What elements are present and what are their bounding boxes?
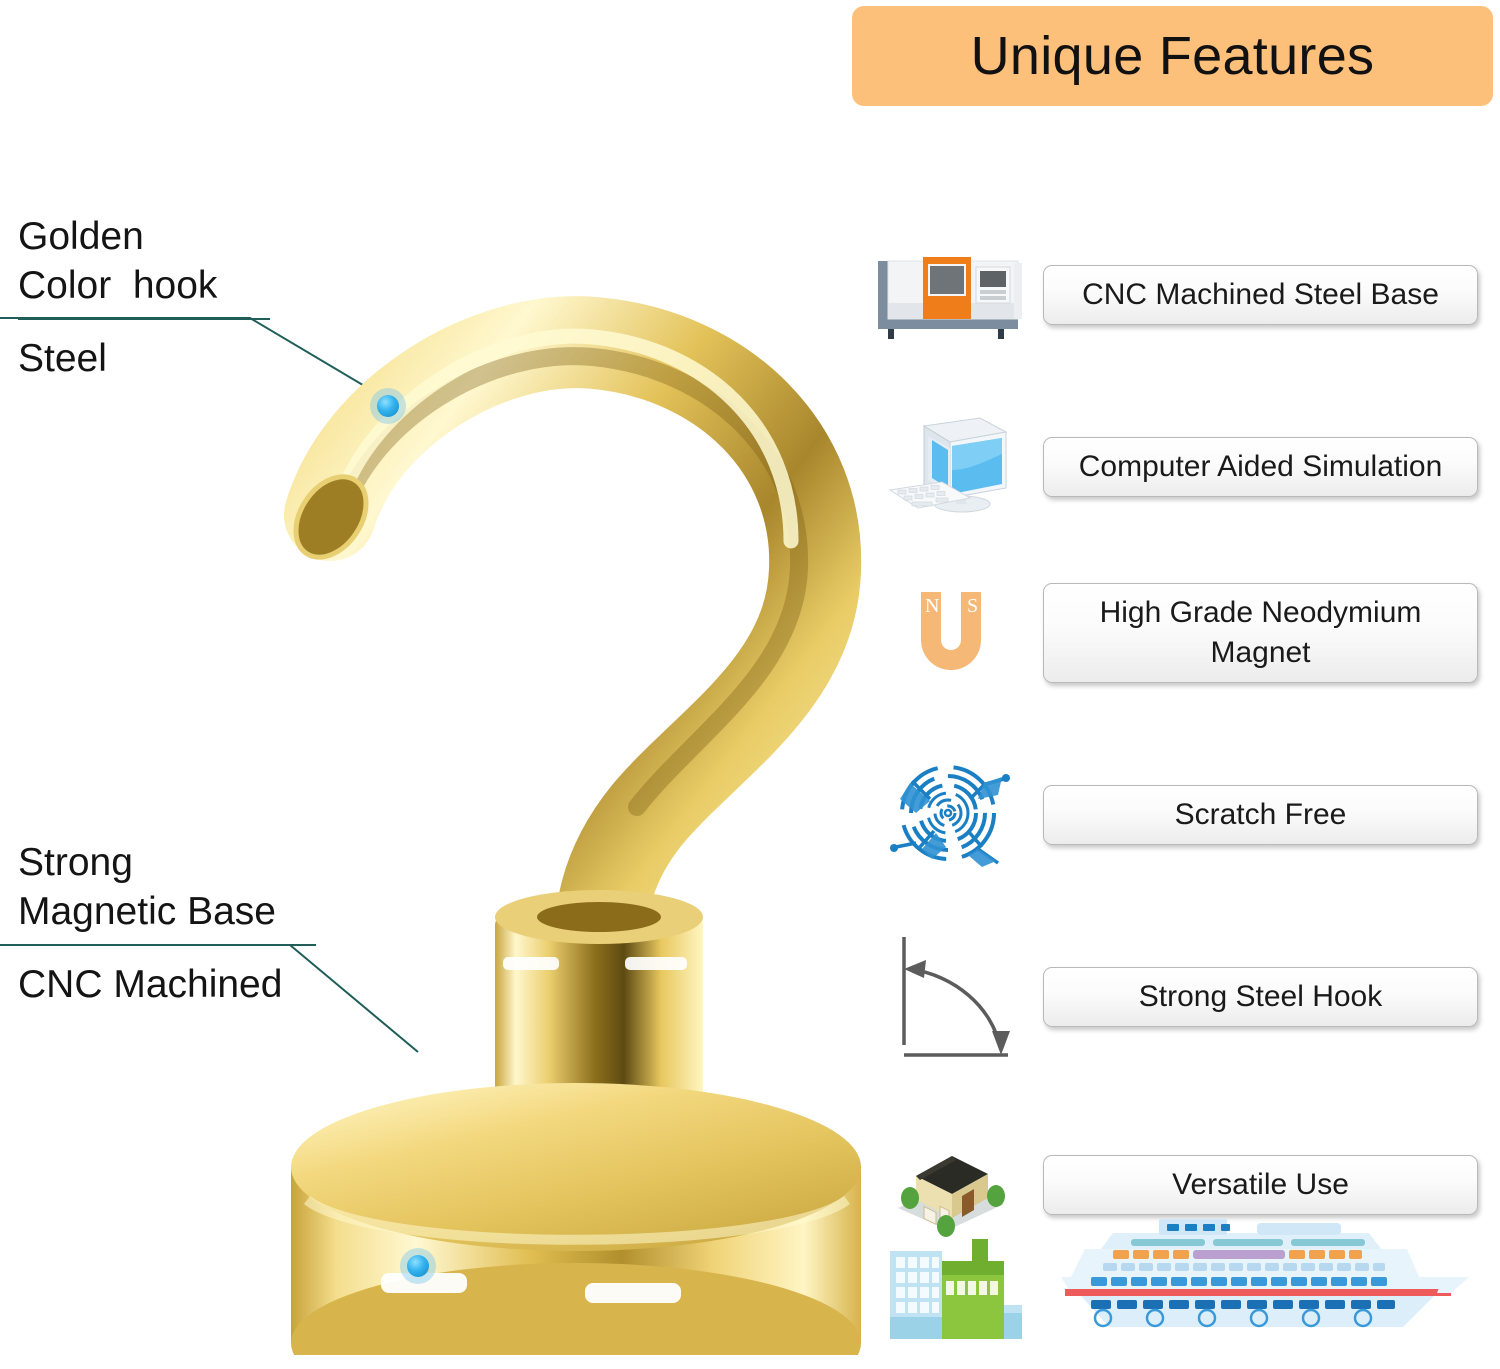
feature-label-pill[interactable]: Strong Steel Hook	[1043, 967, 1478, 1027]
hook-and-base-illustration	[255, 215, 895, 1355]
product-image-magnetic-hook	[255, 215, 895, 1355]
curved-arrow-icon	[858, 942, 1043, 1052]
feature-row[interactable]: Scratch Free	[858, 760, 1478, 870]
feature-label-pill[interactable]: CNC Machined Steel Base	[1043, 265, 1478, 325]
computer-monitor-icon	[858, 412, 1043, 522]
factory-buildings-icon	[858, 1225, 1043, 1345]
page-title: Unique Features	[971, 29, 1375, 83]
annotation-top-line-1: Golden	[18, 212, 270, 261]
annotation-golden-hook: Golden Color hook Steel	[18, 212, 270, 383]
feature-label-pill[interactable]: Computer Aided Simulation	[1043, 437, 1478, 497]
cnc-machine-icon	[858, 240, 1043, 350]
feature-row[interactable]: CNC Machined Steel Base	[858, 240, 1478, 350]
radar-spiral-icon	[858, 760, 1043, 870]
annotation-top-rule	[18, 318, 270, 320]
magnet-south-label: S	[967, 595, 978, 617]
unique-features-banner: Unique Features	[852, 6, 1493, 106]
feature-row[interactable]: Computer Aided Simulation	[858, 412, 1478, 522]
feature-label-pill[interactable]: High Grade Neodymium Magnet	[1043, 583, 1478, 683]
magnet-north-label: N	[925, 595, 939, 617]
bottom-icon-row	[858, 1215, 1488, 1345]
feature-label-pill[interactable]: Scratch Free	[1043, 785, 1478, 845]
feature-label-pill[interactable]: Versatile Use	[1043, 1155, 1478, 1215]
feature-row[interactable]: N S High Grade Neodymium Magnet	[858, 578, 1478, 688]
annotation-top-line-2: Color hook	[18, 261, 270, 310]
horseshoe-magnet-icon: N S	[858, 578, 1043, 688]
feature-row[interactable]: Strong Steel Hook	[858, 942, 1478, 1052]
annotation-top-line-3: Steel	[18, 334, 270, 383]
cruise-ship-icon	[1043, 1215, 1488, 1345]
